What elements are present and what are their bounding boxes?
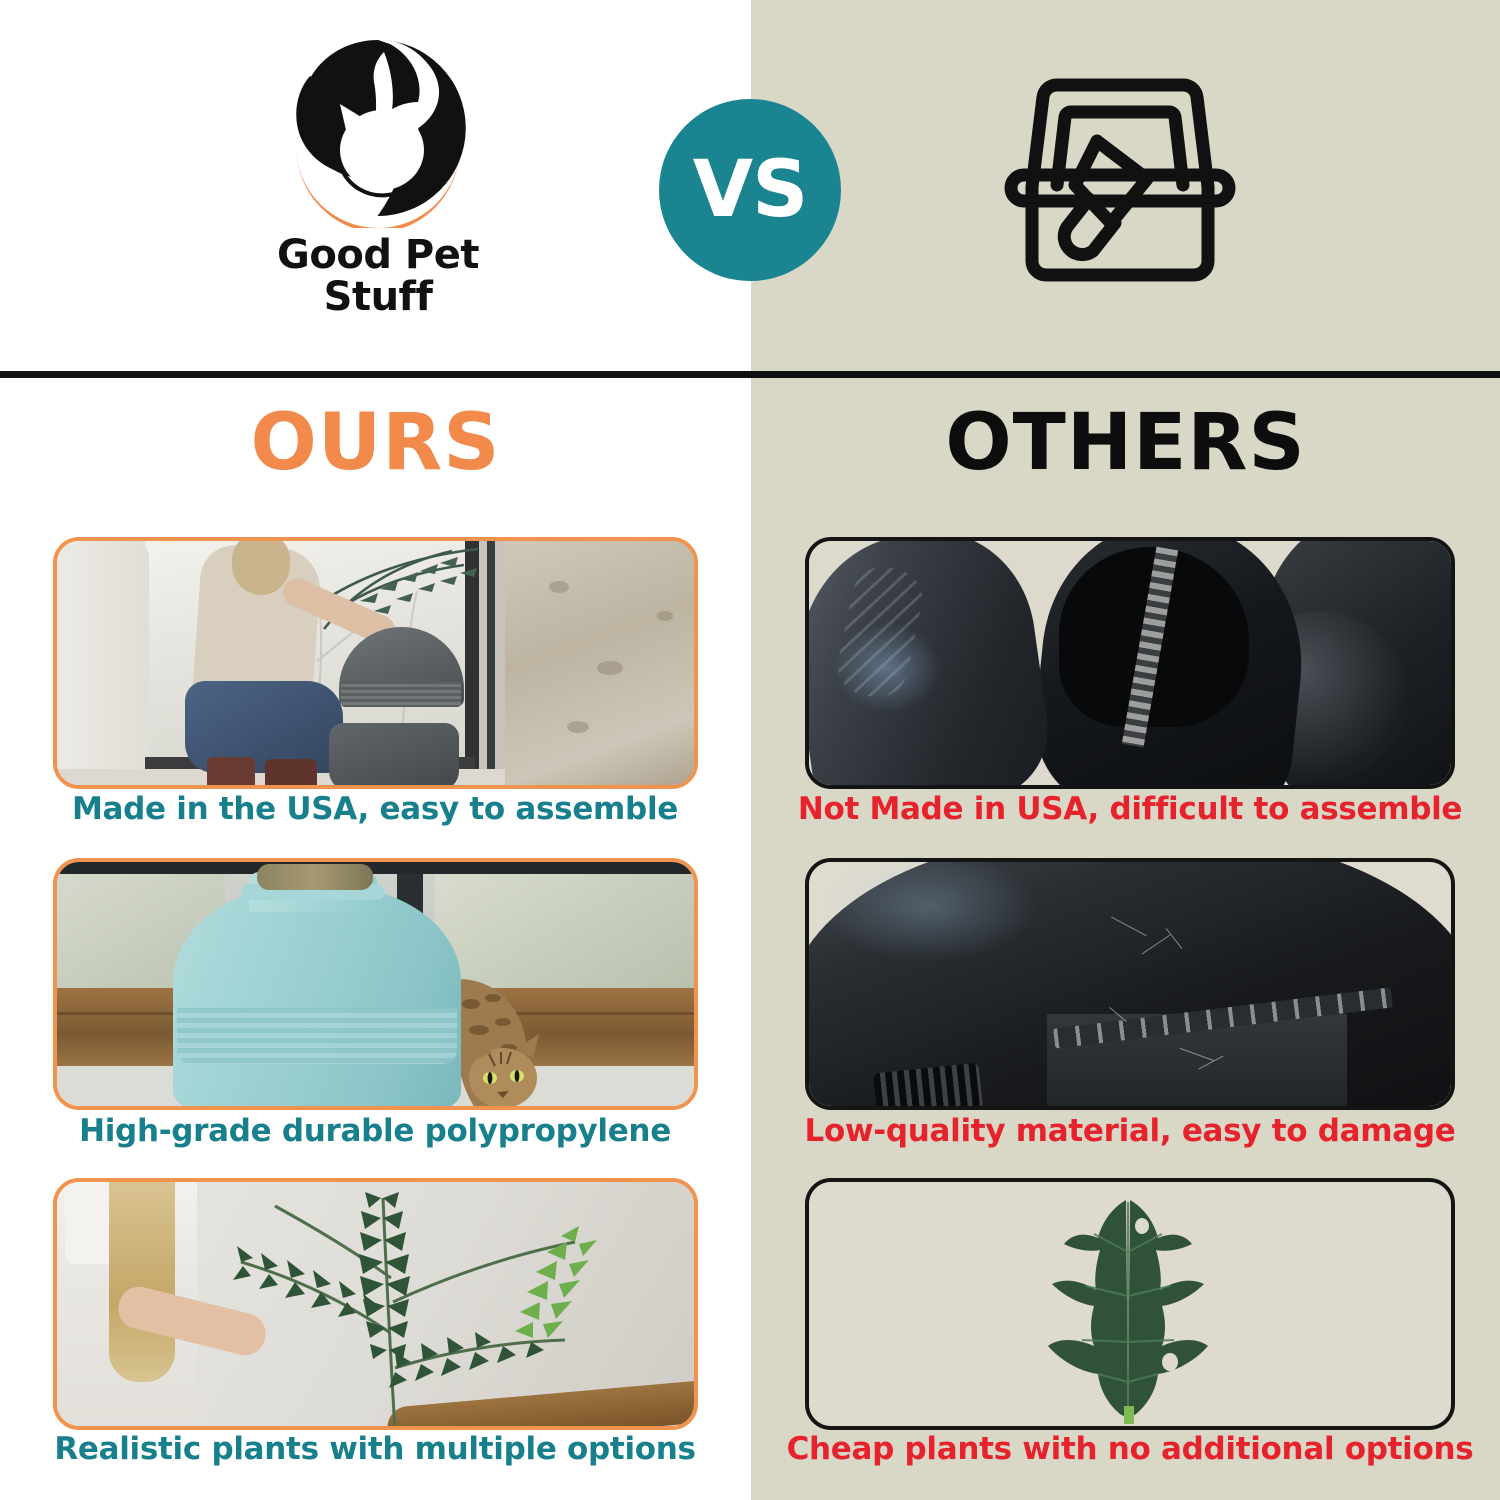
- others-caption-3: Cheap plants with no additional options: [772, 1432, 1488, 1466]
- others-caption-2: Low-quality material, easy to damage: [772, 1114, 1488, 1148]
- disassembled-black-plastic-litter-box-parts-photo: [809, 541, 1451, 785]
- ours-image-panel-2: [53, 858, 698, 1110]
- woman-assembling-grey-planter-litter-box-photo: [57, 541, 694, 785]
- brand-name-line-2: Stuff: [228, 276, 528, 318]
- others-image-panel-3: [805, 1178, 1455, 1430]
- header-horizontal-divider: [0, 371, 1500, 378]
- comparison-infographic: Good Pet Stuff VS OURS OTHERS: [0, 0, 1500, 1500]
- litter-box-with-scoop-icon: [985, 55, 1255, 305]
- brand-name-line-1: Good Pet: [228, 234, 528, 276]
- others-caption-1: Not Made in USA, difficult to assemble: [772, 792, 1488, 826]
- others-image-panel-1: [805, 537, 1455, 789]
- others-heading: OTHERS: [751, 404, 1500, 482]
- vs-badge: VS: [659, 99, 841, 281]
- woman-arranging-realistic-palm-fronds-photo: [57, 1182, 694, 1426]
- single-cheap-monstera-leaf-photo: [809, 1182, 1451, 1426]
- ours-caption-2: High-grade durable polypropylene: [20, 1114, 730, 1148]
- brand-name: Good Pet Stuff: [228, 234, 528, 318]
- header: Good Pet Stuff VS: [0, 0, 1500, 371]
- blue-planter-litter-box-with-bengal-cat-photo: [57, 862, 694, 1106]
- ours-heading: OURS: [0, 404, 751, 482]
- ours-caption-3: Realistic plants with multiple options: [20, 1432, 730, 1466]
- vs-label: VS: [693, 151, 808, 229]
- ours-caption-1: Made in the USA, easy to assemble: [20, 792, 730, 826]
- dog-cat-circle-logo-icon: [278, 28, 478, 228]
- others-image-panel-2: [805, 858, 1455, 1110]
- ours-image-panel-1: [53, 537, 698, 789]
- brand-logo-block: Good Pet Stuff: [228, 28, 528, 318]
- ours-image-panel-3: [53, 1178, 698, 1430]
- scratched-black-hooded-litter-box-photo: [809, 862, 1451, 1106]
